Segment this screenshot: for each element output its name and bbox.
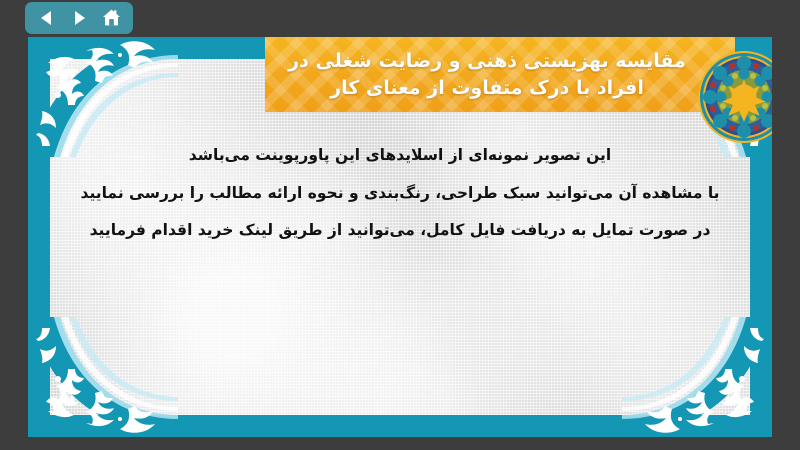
- slide-canvas: مقایسه بهزیستی ذهنی و رضایت شغلی در افرا…: [28, 37, 772, 437]
- slide-title-banner: مقایسه بهزیستی ذهنی و رضایت شغلی در افرا…: [265, 37, 735, 112]
- home-icon: [101, 8, 122, 28]
- body-line-2: با مشاهده آن می‌توانید سبک طراحی، رنگ‌بن…: [68, 175, 732, 213]
- navigation-bar: [25, 2, 133, 34]
- body-line-3: در صورت تمایل به دریافت فایل کامل، می‌تو…: [68, 212, 732, 250]
- presentation-viewer: مقایسه بهزیستی ذهنی و رضایت شغلی در افرا…: [0, 0, 800, 450]
- next-slide-button[interactable]: [66, 6, 92, 30]
- body-line-1: این تصویر نمونه‌ای از اسلایدهای این پاور…: [68, 137, 732, 175]
- previous-slide-button[interactable]: [34, 6, 60, 30]
- forward-arrow-icon: [70, 9, 88, 27]
- slide-body-text: این تصویر نمونه‌ای از اسلایدهای این پاور…: [68, 137, 732, 250]
- page-title: مقایسه بهزیستی ذهنی و رضایت شغلی در افرا…: [279, 48, 695, 102]
- back-arrow-icon: [38, 9, 56, 27]
- mandala-rosette-ornament: [696, 49, 772, 145]
- home-button[interactable]: [98, 6, 124, 30]
